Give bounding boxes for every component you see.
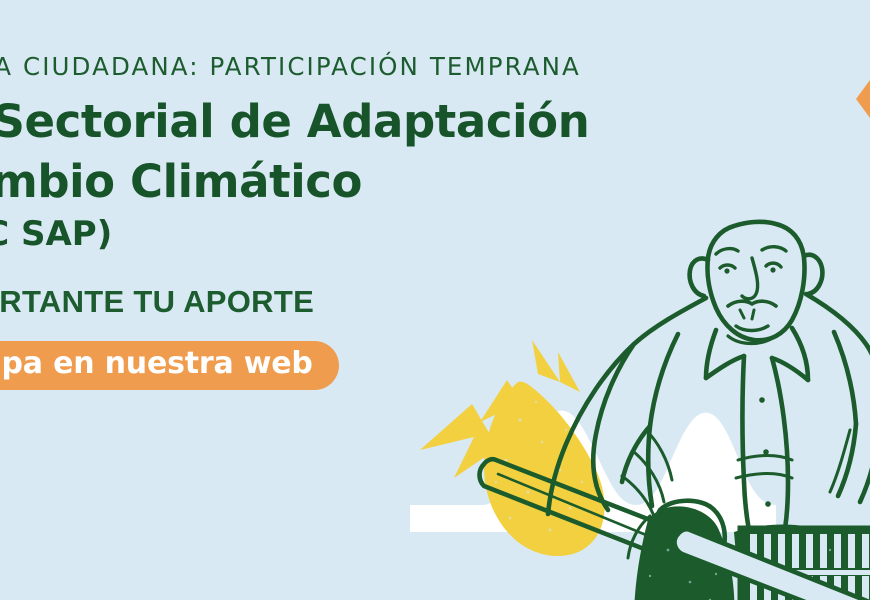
headline-line-1: Plan Sectorial de Adaptación <box>0 92 568 152</box>
headline-line-2: al Cambio Climático <box>0 152 568 212</box>
subheadline-text: ES IMPORTANTE TU APORTE <box>0 285 568 319</box>
page-title: Plan Sectorial de Adaptación al Cambio C… <box>0 92 568 259</box>
headline-line-3: (PSACC SAP) <box>0 211 568 259</box>
participate-cta-button[interactable]: Participa en nuestra web <box>0 341 339 390</box>
promo-banner: CONSULTA CIUDADANA: PARTICIPACIÓN TEMPRA… <box>0 0 870 600</box>
text-content-block: CONSULTA CIUDADANA: PARTICIPACIÓN TEMPRA… <box>0 54 568 390</box>
orange-triangle-decoration <box>856 80 870 118</box>
eyebrow-text: CONSULTA CIUDADANA: PARTICIPACIÓN TEMPRA… <box>0 54 568 80</box>
cta-container: Participa en nuestra web <box>0 341 339 390</box>
